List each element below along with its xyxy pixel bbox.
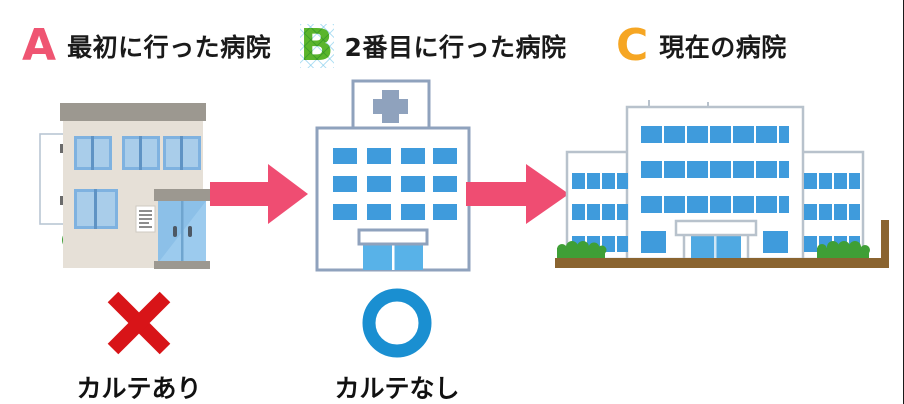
header-step-b: B 2番目に行った病院 [300,24,566,68]
figure-canvas: A 最初に行った病院 B 2番目に行った病院 C 現在の病院 [0,0,904,404]
hospital-entrance [359,230,427,270]
arrow-right-icon [210,160,310,230]
header-label-a: 最初に行った病院 [67,28,271,64]
header-label-c: 現在の病院 [659,28,787,64]
current-hospital-illustration [545,100,903,282]
building-second-hospital [305,78,485,283]
building-first-clinic [30,96,235,286]
marker-letter-b: B [300,24,334,68]
marker-letter-a: A [22,24,56,68]
result-first-clinic: カルテあり [34,286,244,404]
clinic-notice-plate [136,206,155,232]
ground-line [555,258,889,268]
header-step-c: C 現在の病院 [616,24,787,68]
circle-mark-icon [360,286,434,360]
right-wing-windows [804,173,860,252]
second-hospital-illustration [305,78,485,278]
clinic-upper-windows [74,136,201,170]
marker-letter-c: C [616,24,648,68]
cross-mark-icon [102,286,176,360]
first-clinic-illustration [30,96,235,281]
arrow-a-to-b [210,160,310,235]
ground-post [881,220,889,268]
clinic-entrance-doors [154,201,210,269]
left-wing-windows [572,173,628,252]
clinic-roof [60,103,206,121]
building-current-hospital [545,100,903,287]
header-label-b: 2番目に行った病院 [345,28,567,64]
result-label-second: カルテなし [292,369,502,404]
clinic-lower-window [74,189,118,229]
result-second-hospital: カルテなし [292,286,502,404]
header-step-a: A 最初に行った病院 [22,24,271,68]
clinic-door-canopy [154,189,210,201]
result-label-first: カルテあり [34,369,244,404]
